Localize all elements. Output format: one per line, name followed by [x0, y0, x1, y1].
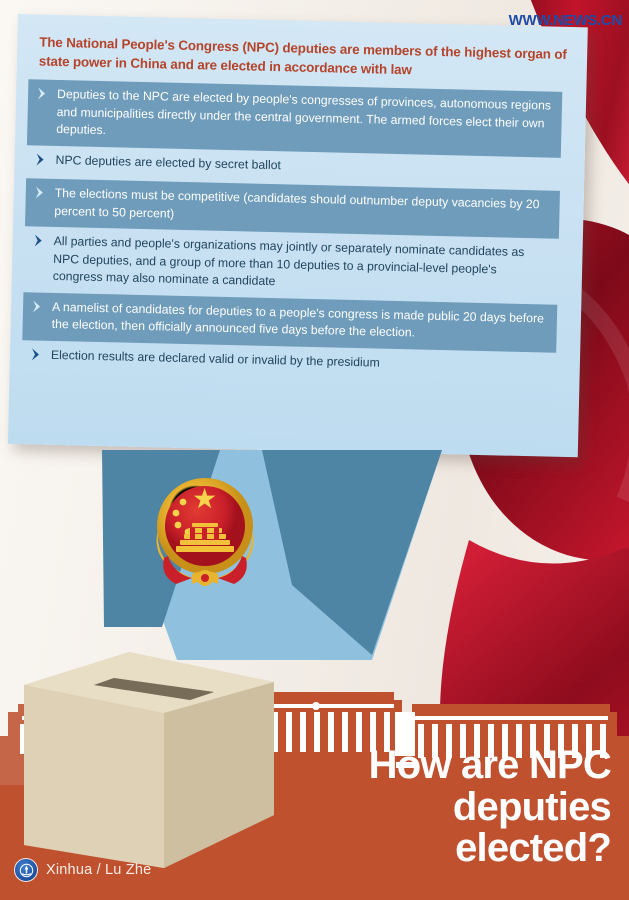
page-title: The National People's Congress (NPC) dep…: [39, 33, 570, 84]
chevron-right-icon: [34, 152, 48, 172]
chevron-right-icon: [34, 186, 48, 206]
chevron-right-icon: [31, 299, 45, 319]
headline-title-line1: How are NPC: [369, 743, 611, 787]
list-item-label: NPC deputies are elected by secret ballo…: [55, 152, 550, 181]
watermark: WWW.NEWS.CN: [509, 12, 622, 29]
headline-title: How are NPC deputies elected?: [291, 745, 611, 870]
list-item-label: All parties and people's organizations m…: [53, 233, 549, 297]
list-item-label: Deputies to the NPC are elected by peopl…: [56, 86, 552, 150]
chevron-right-icon: [30, 347, 44, 367]
bullet-list: Deputies to the NPC are elected by peopl…: [24, 79, 573, 386]
chevron-right-icon: [32, 234, 46, 254]
headline-title-line2: deputies elected?: [291, 787, 611, 870]
list-item-label: The elections must be competitive (candi…: [54, 185, 550, 232]
credit: Xinhua / Lu Zhe: [14, 858, 151, 882]
list-item-label: Election results are declared valid or i…: [51, 347, 546, 376]
list-item: All parties and people's organizations m…: [23, 226, 558, 304]
china-national-emblem-icon: [142, 468, 268, 594]
infographic-canvas: The National People's Congress (NPC) dep…: [0, 0, 629, 900]
list-item: Deputies to the NPC are elected by peopl…: [27, 79, 562, 157]
chevron-right-icon: [36, 87, 50, 107]
content-panel: The National People's Congress (NPC) dep…: [8, 14, 588, 457]
ballot-box-icon: [14, 640, 294, 870]
xinhua-logo-icon: [14, 858, 38, 882]
list-item-label: A namelist of candidates for deputies to…: [51, 299, 547, 346]
credit-label: Xinhua / Lu Zhe: [46, 862, 151, 878]
